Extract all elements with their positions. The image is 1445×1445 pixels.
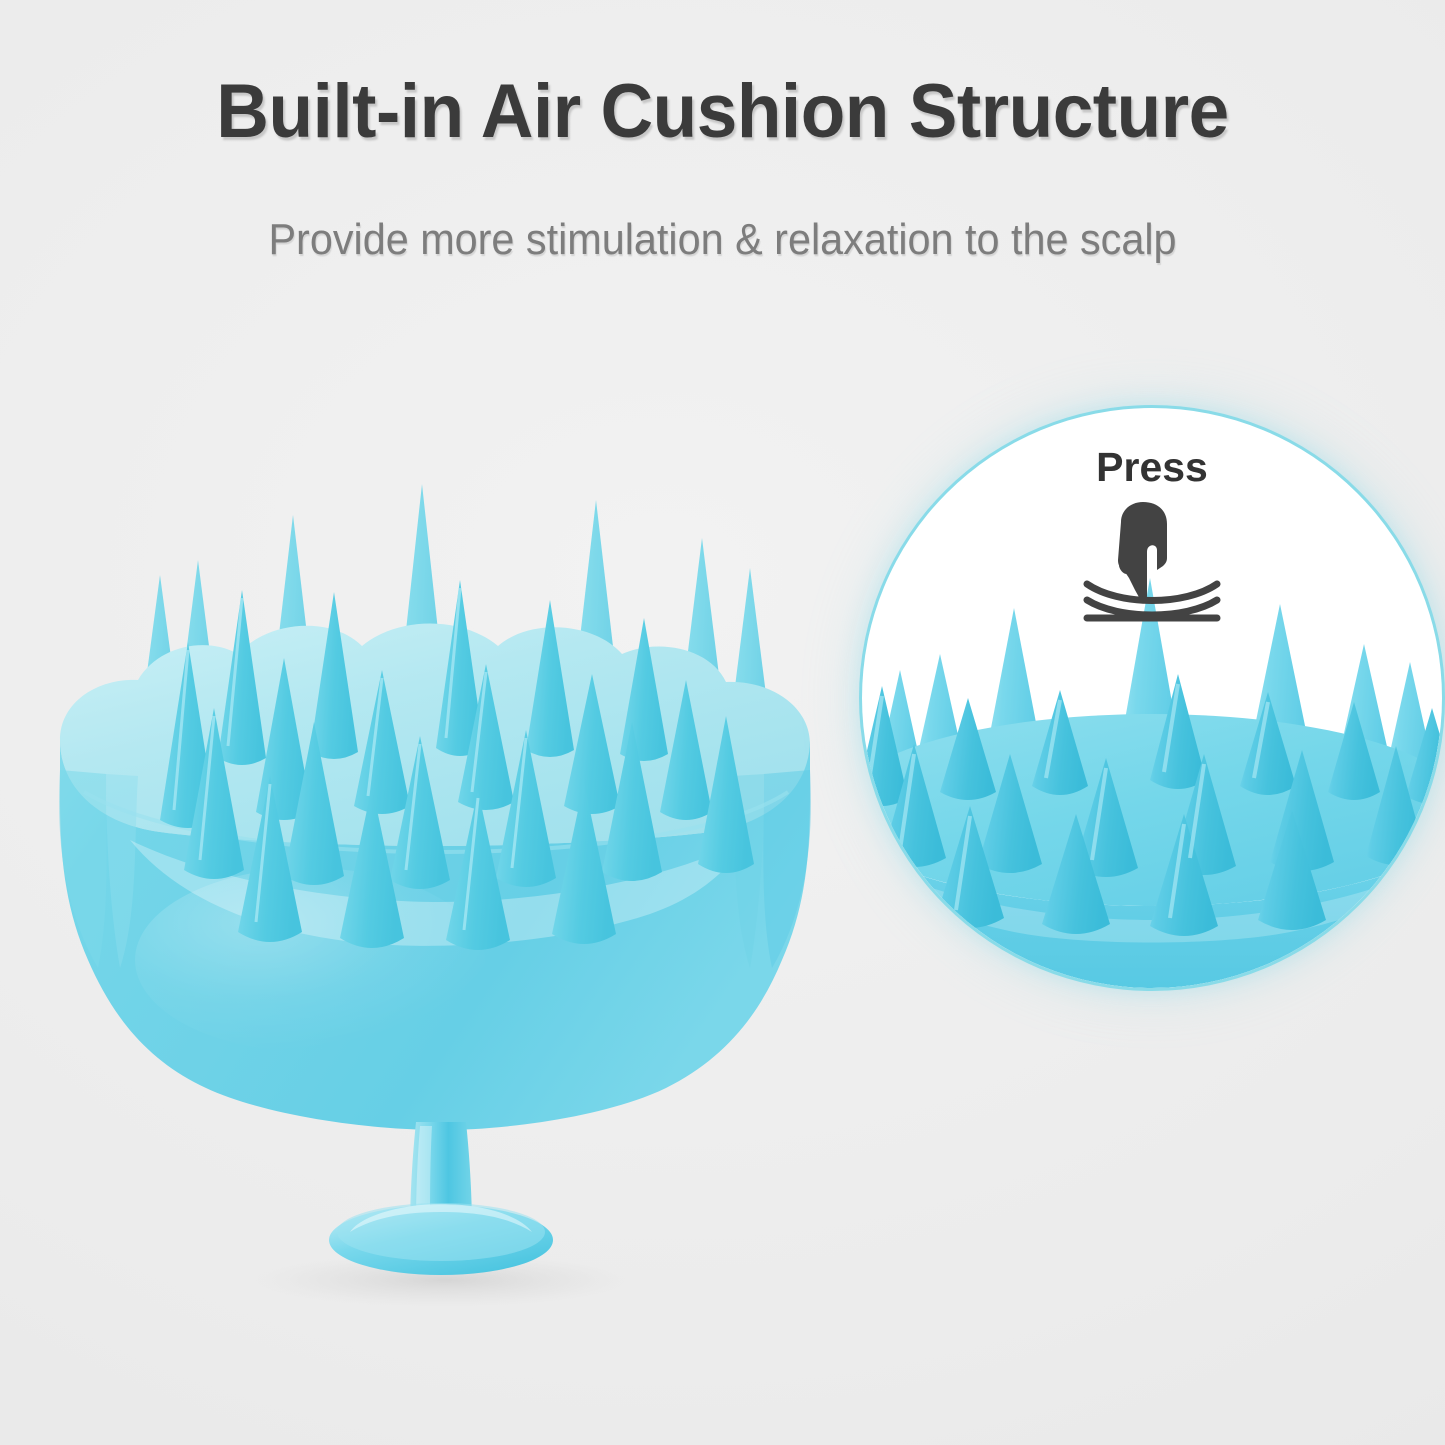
product-marketing-canvas: Built-in Air Cushion Structure Provide m… xyxy=(0,0,1445,1445)
page-title: Built-in Air Cushion Structure xyxy=(29,74,1416,150)
page-subtitle: Provide more stimulation & relaxation to… xyxy=(43,216,1401,264)
press-detail-callout: Press xyxy=(862,408,1442,988)
press-hand-icon xyxy=(1077,500,1227,632)
press-label: Press xyxy=(862,444,1442,491)
product-hero-image xyxy=(10,440,890,1340)
